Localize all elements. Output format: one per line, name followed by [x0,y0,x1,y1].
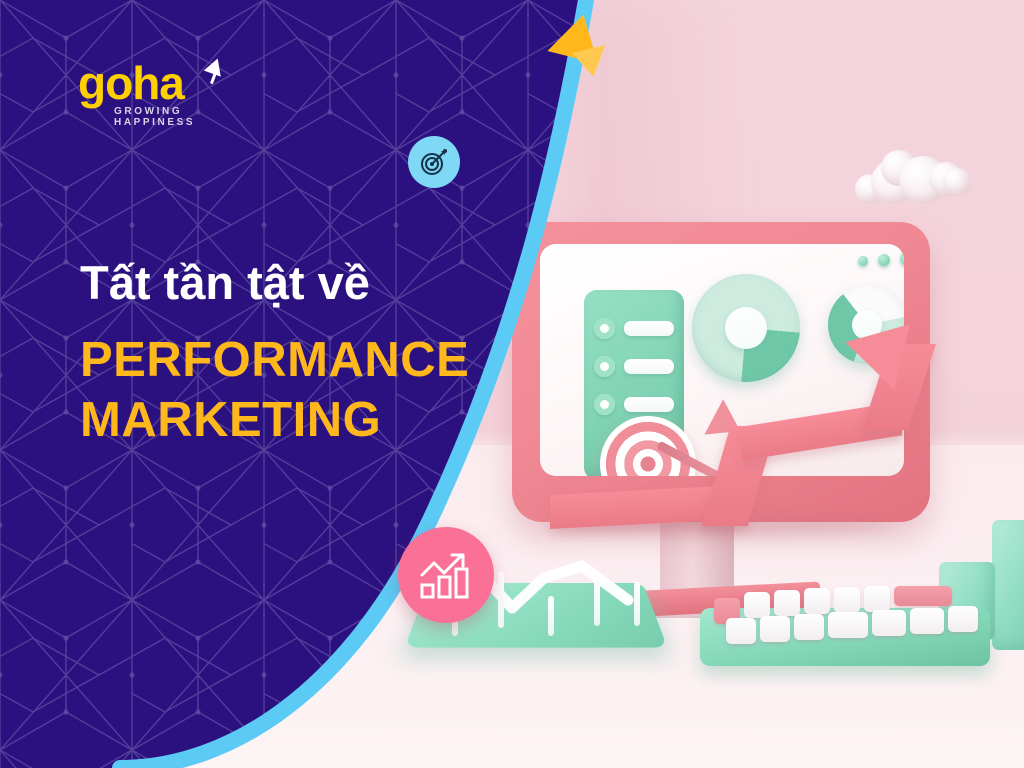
target-icon [419,147,449,177]
headline-block: Tất tần tật về PERFORMANCE MARKETING [80,258,510,450]
headline-line-2: PERFORMANCE [80,331,510,391]
logo-wordmark: goha [78,60,268,106]
growth-badge[interactable] [398,527,494,623]
growth-chart-icon [418,549,474,601]
headline-line-3: MARKETING [80,391,510,451]
marketing-banner: goha GROWING HAPPINESS Tất tần tật về PE… [0,0,1024,768]
brand-logo[interactable]: goha GROWING HAPPINESS [78,60,268,126]
headline-line-1: Tất tần tật về [80,258,510,309]
target-badge[interactable] [408,136,460,188]
logo-tagline: GROWING HAPPINESS [114,106,268,128]
